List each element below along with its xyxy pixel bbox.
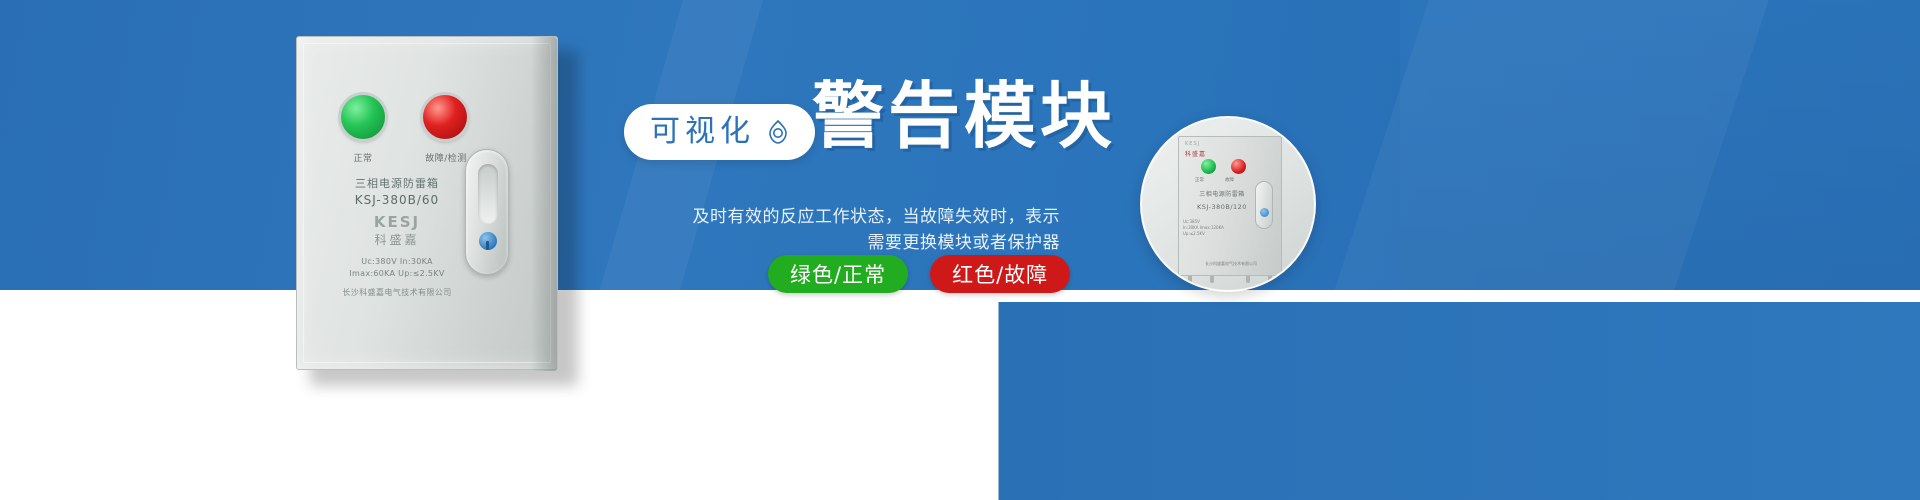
- latch-slot: [478, 164, 498, 224]
- product-photo: 正常 故障/检测 三相电源防雷箱 KSJ-380B/60 KESJ 科盛嘉 Uc…: [296, 36, 564, 372]
- product-circle-inset: KESJ 科盛嘉 正常 故障 三相电源防雷箱 KSJ-380B/120 Uc:3…: [1140, 116, 1316, 292]
- inset-panel-title: 三相电源防雷箱: [1179, 189, 1265, 198]
- label-normal: 正常: [337, 151, 389, 164]
- inset-latch-keyhole: [1260, 208, 1269, 217]
- inset-enclosure: KESJ 科盛嘉 正常 故障 三相电源防雷箱 KSJ-380B/120 Uc:3…: [1178, 136, 1282, 276]
- banner-background-lower: [0, 302, 1920, 500]
- inset-green-indicator-light: [1201, 159, 1216, 174]
- circle-frame: KESJ 科盛嘉 正常 故障 三相电源防雷箱 KSJ-380B/120 Uc:3…: [1140, 116, 1316, 292]
- inset-brand-latin: KESJ: [1185, 141, 1200, 147]
- inset-label-fault: 故障: [1225, 177, 1234, 183]
- red-indicator-light: [423, 95, 467, 139]
- inset-red-indicator-light: [1231, 159, 1246, 174]
- latch-keyhole: [479, 232, 497, 250]
- promo-banner: 正常 故障/检测 三相电源防雷箱 KSJ-380B/60 KESJ 科盛嘉 Uc…: [0, 0, 1920, 500]
- enclosure-latch: [465, 149, 509, 275]
- inset-spec-line3: Up:≤2.5KV: [1183, 231, 1239, 237]
- product-spec-line2: Imax:60KA Up:≤2.5KV: [297, 269, 497, 278]
- inset-model: KSJ-380B/120: [1179, 203, 1265, 211]
- inset-specs: Uc:385V In:30KA Imax:120KA Up:≤2.5KV: [1183, 219, 1239, 237]
- product-company: 长沙科盛嘉电气技术有限公司: [297, 287, 497, 298]
- product-edge-shading: [531, 37, 557, 371]
- subtitle-line-1: 及时有效的反应工作状态，当故障失效时，表示: [640, 204, 1060, 230]
- inset-company: 长沙科盛嘉电气技术有限公司: [1179, 261, 1283, 267]
- inset-latch: [1255, 181, 1273, 229]
- inset-mounting-legs: [1184, 276, 1276, 283]
- product-enclosure: 正常 故障/检测 三相电源防雷箱 KSJ-380B/60 KESJ 科盛嘉 Uc…: [296, 36, 558, 370]
- location-pin-icon: [767, 120, 789, 144]
- visualization-badge: 可视化: [624, 104, 815, 160]
- subtitle: 及时有效的反应工作状态，当故障失效时，表示 需要更换模块或者保护器: [640, 204, 1060, 257]
- status-badge-group: 绿色/正常 红色/故障: [768, 255, 1070, 293]
- visualization-badge-label: 可视化: [650, 117, 755, 147]
- subtitle-line-2: 需要更换模块或者保护器: [640, 230, 1060, 256]
- inset-label-normal: 正常: [1195, 177, 1204, 183]
- green-indicator-light: [341, 95, 385, 139]
- status-badge-normal: 绿色/正常: [768, 255, 908, 293]
- inset-brand-cn: 科盛嘉: [1185, 149, 1206, 158]
- page-title: 警告模块: [812, 80, 1116, 152]
- status-badge-fault: 红色/故障: [930, 255, 1070, 293]
